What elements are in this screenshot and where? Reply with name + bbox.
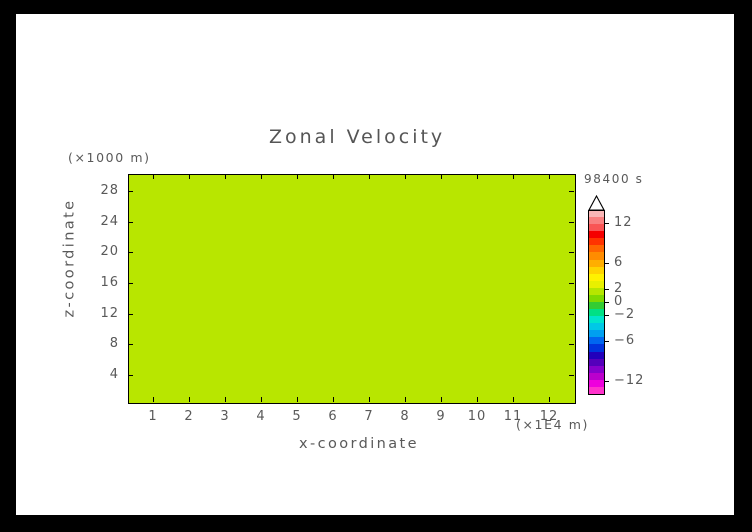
plot-canvas: Zonal Velocity (×1000 m) 98400 s z-coord… (16, 14, 734, 515)
colorbar-tick-mark (605, 315, 609, 316)
x-tick-mark (225, 174, 226, 179)
x-tick-mark (297, 397, 298, 402)
velocity-field (129, 175, 575, 403)
y-tick-label: 24 (93, 214, 119, 229)
x-tick-mark (333, 174, 334, 179)
colorbar[interactable] (588, 210, 605, 394)
colorbar-tick-mark (605, 223, 609, 224)
x-tick-mark (189, 397, 190, 402)
y-tick-mark (569, 283, 574, 284)
x-tick-mark (369, 397, 370, 402)
y-tick-label: 8 (93, 336, 119, 351)
x-tick-label: 9 (429, 409, 453, 424)
colorbar-tick-mark (605, 381, 609, 382)
colorbar-tick-label: −6 (614, 333, 635, 348)
y-tick-mark (128, 222, 133, 223)
x-tick-mark (477, 174, 478, 179)
x-tick-mark (261, 174, 262, 179)
x-tick-label: 12 (537, 409, 561, 424)
x-tick-mark (225, 397, 226, 402)
x-tick-label: 2 (177, 409, 201, 424)
x-tick-label: 6 (321, 409, 345, 424)
y-tick-mark (128, 344, 133, 345)
x-tick-mark (189, 174, 190, 179)
x-tick-label: 7 (357, 409, 381, 424)
x-tick-mark (405, 397, 406, 402)
x-tick-mark (549, 397, 550, 402)
x-tick-mark (441, 174, 442, 179)
colorbar-tick-label: 12 (614, 215, 633, 230)
x-tick-mark (297, 174, 298, 179)
colorbar-tick-label: −2 (614, 307, 635, 322)
y-tick-mark (128, 283, 133, 284)
x-tick-mark (549, 174, 550, 179)
x-tick-mark (369, 174, 370, 179)
colorbar-tick-mark (605, 302, 609, 303)
x-tick-label: 3 (213, 409, 237, 424)
x-tick-label: 4 (249, 409, 273, 424)
y-tick-mark (569, 344, 574, 345)
y-tick-mark (569, 222, 574, 223)
x-tick-mark (513, 174, 514, 179)
y-tick-mark (128, 375, 133, 376)
x-tick-mark (513, 397, 514, 402)
x-tick-mark (153, 397, 154, 402)
x-axis-label: x-coordinate (299, 436, 419, 452)
colorbar-tick-label: −12 (614, 373, 644, 388)
x-tick-label: 10 (465, 409, 489, 424)
y-tick-mark (128, 191, 133, 192)
x-tick-label: 5 (285, 409, 309, 424)
y-tick-mark (569, 191, 574, 192)
x-tick-mark (153, 174, 154, 179)
y-tick-label: 16 (93, 275, 119, 290)
x-tick-label: 8 (393, 409, 417, 424)
colorbar-tick-mark (605, 263, 609, 264)
colorbar-band (588, 387, 605, 395)
x-tick-mark (477, 397, 478, 402)
colorbar-tick-label: 6 (614, 255, 623, 270)
contour-plot-area[interactable] (128, 174, 576, 404)
y-tick-label: 12 (93, 306, 119, 321)
x-tick-label: 11 (501, 409, 525, 424)
y-tick-mark (128, 252, 133, 253)
colorbar-overflow-cap (588, 195, 605, 211)
y-tick-mark (569, 314, 574, 315)
y-axis-label: z-coordinate (61, 199, 77, 318)
x-tick-mark (261, 397, 262, 402)
colorbar-tick-mark (605, 289, 609, 290)
y-tick-mark (569, 375, 574, 376)
y-tick-label: 4 (93, 367, 119, 382)
y-tick-mark (128, 314, 133, 315)
y-tick-label: 28 (93, 183, 119, 198)
x-tick-mark (333, 397, 334, 402)
x-tick-mark (405, 174, 406, 179)
y-tick-label: 20 (93, 244, 119, 259)
x-tick-mark (441, 397, 442, 402)
image-border: Zonal Velocity (×1000 m) 98400 s z-coord… (0, 0, 752, 532)
timestamp-label: 98400 s (584, 172, 643, 186)
y-tick-mark (569, 252, 574, 253)
x-tick-label: 1 (141, 409, 165, 424)
colorbar-tick-mark (605, 341, 609, 342)
page-title: Zonal Velocity (269, 126, 445, 148)
y-axis-unit: (×1000 m) (68, 150, 151, 165)
